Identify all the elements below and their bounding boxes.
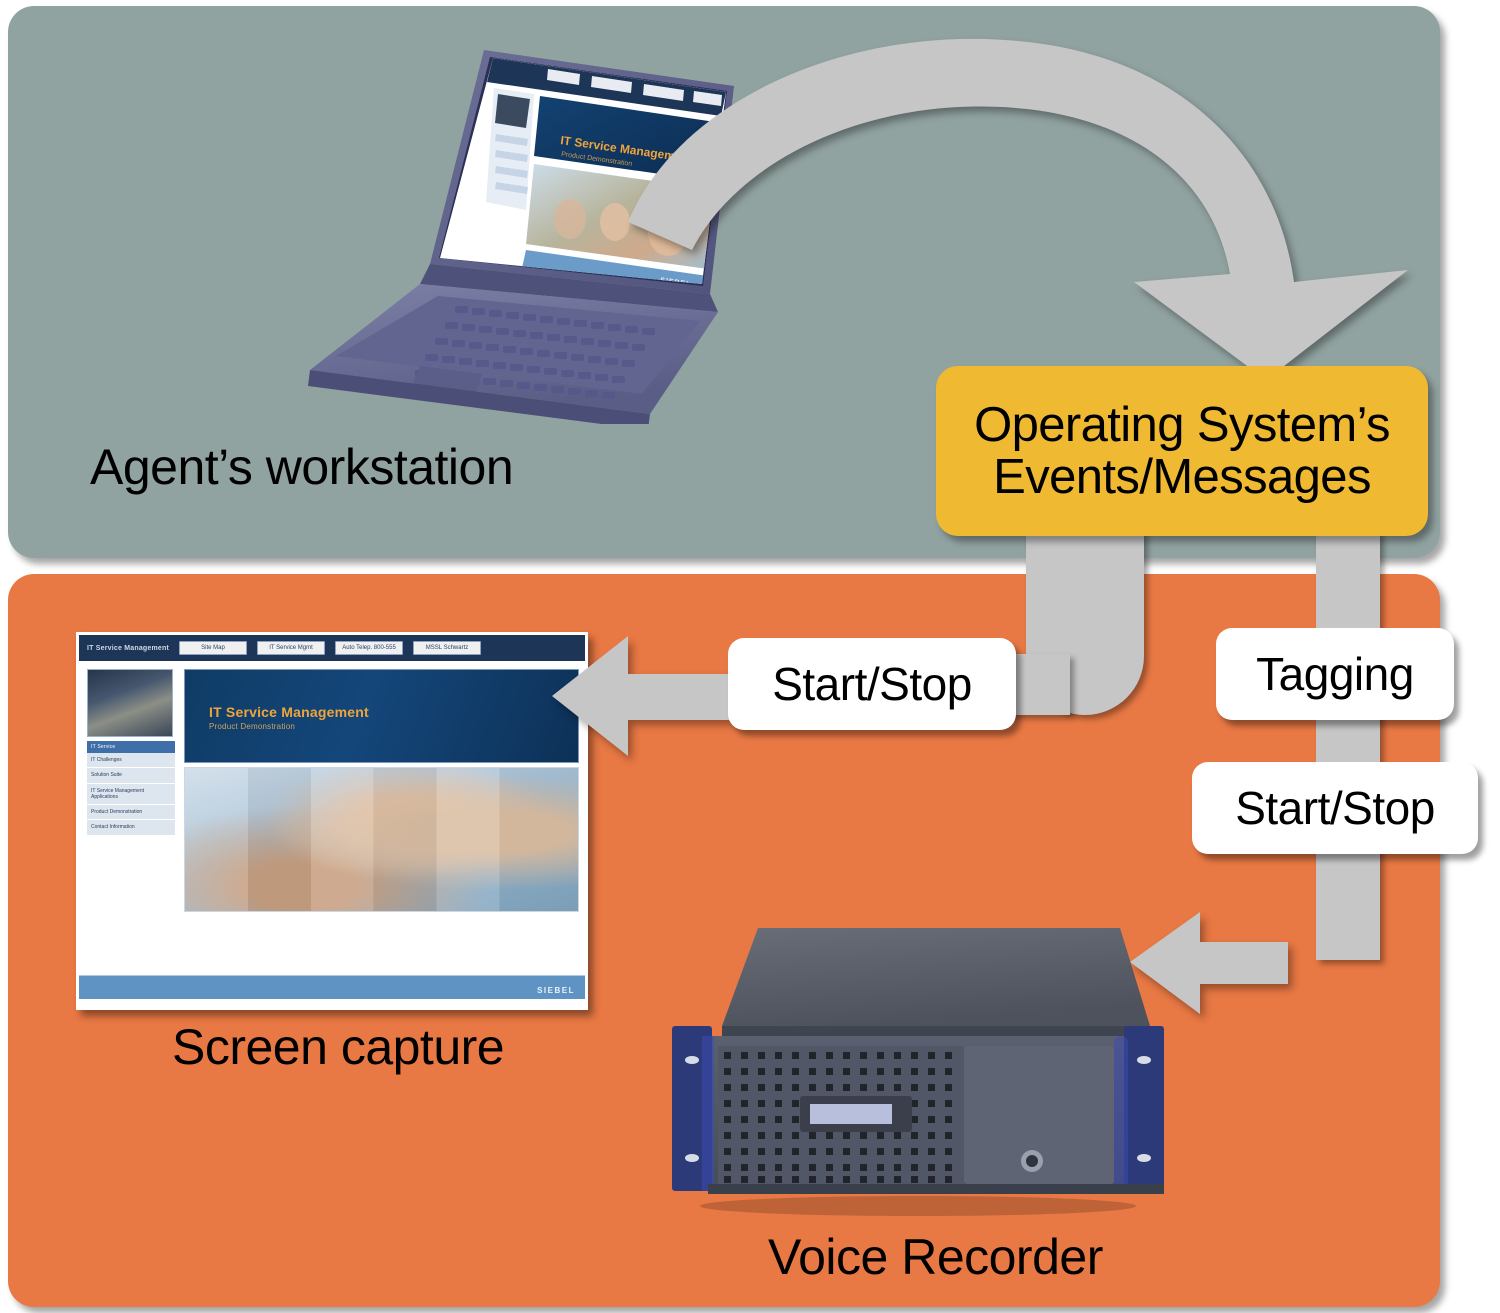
screen-capture-hero-subtitle: Product Demonstration	[209, 722, 295, 731]
screen-capture-hero-title: IT Service Management	[209, 704, 369, 720]
screen-capture-nav-item-3[interactable]: MSSL Schwartz	[413, 641, 481, 655]
curved-down-arrow-icon	[618, 32, 1438, 382]
sidebar-item-2[interactable]: IT Service Management Applications	[87, 784, 175, 806]
screen-capture-sidebar: IT Service IT Challenges Solution Suite …	[87, 669, 175, 961]
edge-label-start-stop-voice-recorder-text: Start/Stop	[1235, 781, 1435, 835]
os-node-text: Operating System’s Events/Messages	[974, 399, 1390, 504]
siebel-logo: SIEBEL	[537, 986, 575, 995]
screen-capture-body: IT Service IT Challenges Solution Suite …	[79, 661, 585, 961]
screen-capture-photo-collage	[184, 767, 579, 912]
screen-capture-window[interactable]: IT Service Management Site Map IT Servic…	[76, 632, 588, 1010]
screen-capture-nav-item-1[interactable]: IT Service Mgmt	[257, 641, 325, 655]
left-arrow-icon	[550, 630, 750, 760]
rack-server-icon	[662, 908, 1174, 1218]
edge-label-start-stop-screen-capture-text: Start/Stop	[772, 657, 972, 711]
diagram-canvas: IT Service Management Product Demonstrat…	[0, 0, 1500, 1313]
sidebar-item-0[interactable]: IT Challenges	[87, 753, 175, 768]
connector-pipe-to-voice-recorder	[1316, 530, 1380, 960]
sidebar-item-4[interactable]: Contact Information	[87, 820, 175, 835]
sidebar-heading: IT Service	[87, 741, 175, 753]
node-operating-system-events[interactable]: Operating System’s Events/Messages	[936, 366, 1428, 536]
screen-capture-hero: IT Service Management Product Demonstrat…	[184, 669, 579, 763]
sidebar-item-3[interactable]: Product Demonstration	[87, 805, 175, 820]
os-node-line2: Events/Messages	[993, 450, 1371, 504]
caption-screen-capture: Screen capture	[172, 1018, 504, 1076]
os-node-line1: Operating System’s	[974, 398, 1390, 452]
screen-capture-nav-item-2[interactable]: Auto Telep. 800-555	[335, 641, 403, 655]
edge-label-tagging[interactable]: Tagging	[1216, 628, 1454, 720]
edge-label-start-stop-screen-capture[interactable]: Start/Stop	[728, 638, 1016, 730]
edge-label-start-stop-voice-recorder[interactable]: Start/Stop	[1192, 762, 1478, 854]
presenter-portrait-image	[87, 669, 173, 737]
sidebar-item-1[interactable]: Solution Suite	[87, 768, 175, 783]
elbow-left-arrow-icon	[1128, 900, 1288, 1020]
screen-capture-main: IT Service Management Product Demonstrat…	[184, 669, 579, 961]
edge-label-tagging-text: Tagging	[1256, 647, 1414, 701]
screen-capture-brand: IT Service Management	[87, 645, 169, 652]
screen-capture-footer: SIEBEL	[79, 961, 585, 999]
screen-capture-nav-item-0[interactable]: Site Map	[179, 641, 247, 655]
caption-agents-workstation: Agent’s workstation	[90, 438, 513, 496]
caption-voice-recorder: Voice Recorder	[768, 1228, 1103, 1286]
screen-capture-topbar: IT Service Management Site Map IT Servic…	[79, 635, 585, 661]
